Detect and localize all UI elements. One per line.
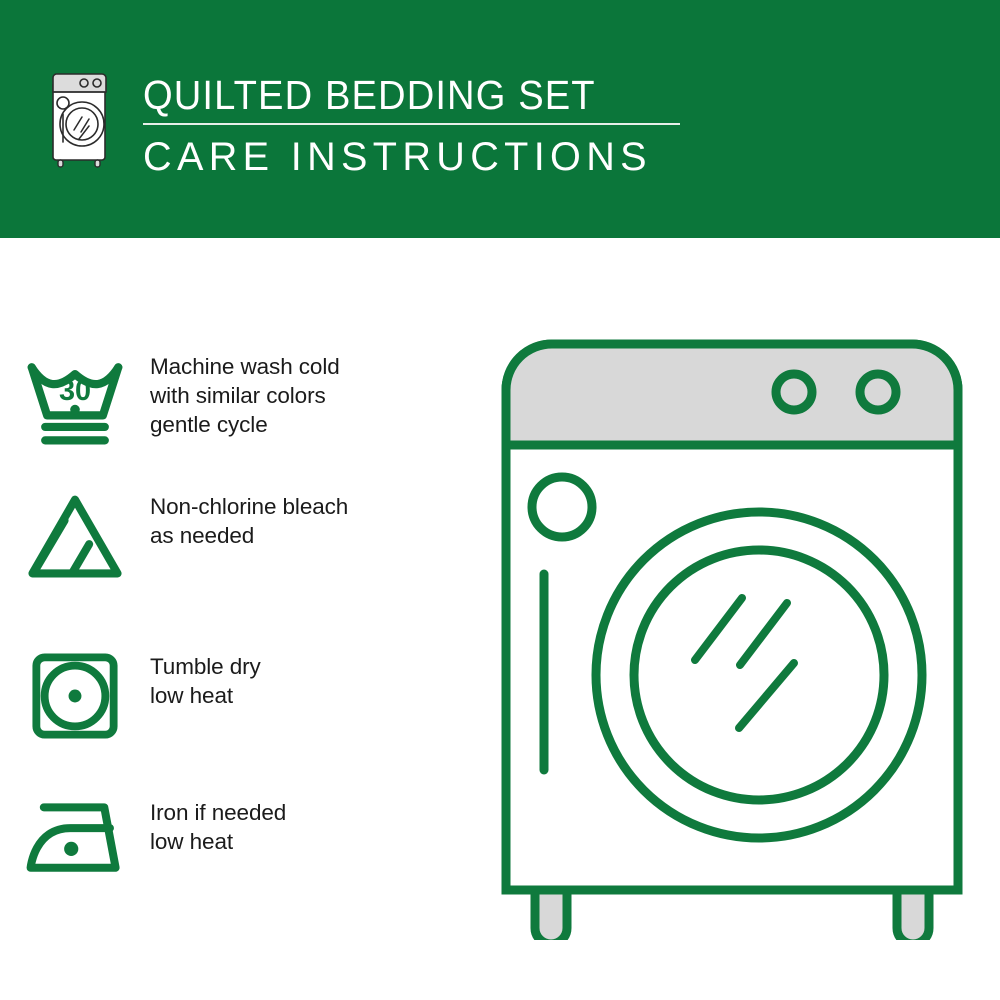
- wash-temperature-label: 30: [59, 375, 91, 407]
- care-instruction-list: 30 Machine wash cold with similar colors…: [0, 238, 480, 1000]
- title-divider: [143, 123, 680, 125]
- care-text-line: Iron if needed: [150, 798, 286, 827]
- wash-tub-30-icon: 30: [0, 350, 150, 450]
- care-text-line: with similar colors: [150, 381, 340, 410]
- care-instructions-page: QUILTED BEDDING SET CARE INSTRUCTIONS 30: [0, 0, 1000, 1000]
- care-item-tumble-dry-text: Tumble dry low heat: [150, 650, 261, 710]
- iron-low-heat-icon: [0, 796, 150, 881]
- care-text-line: Tumble dry: [150, 652, 261, 681]
- care-item-machine-wash-text: Machine wash cold with similar colors ge…: [150, 350, 340, 439]
- care-text-line: gentle cycle: [150, 410, 340, 439]
- care-text-line: low heat: [150, 827, 286, 856]
- page-title: QUILTED BEDDING SET: [143, 72, 720, 118]
- tumble-dry-low-icon: [0, 650, 150, 742]
- header-text-block: QUILTED BEDDING SET CARE INSTRUCTIONS: [143, 72, 763, 179]
- care-item-iron: Iron if needed low heat: [0, 796, 470, 881]
- page-subtitle: CARE INSTRUCTIONS: [143, 135, 757, 179]
- care-item-machine-wash: 30 Machine wash cold with similar colors…: [0, 350, 470, 450]
- washer-leg-right: [897, 890, 929, 940]
- care-text-line: low heat: [150, 681, 261, 710]
- care-item-iron-text: Iron if needed low heat: [150, 796, 286, 856]
- washing-machine-icon: [46, 68, 118, 170]
- care-text-line: Non-chlorine bleach: [150, 492, 348, 521]
- care-item-bleach: Non-chlorine bleach as needed: [0, 490, 470, 585]
- washer-leg-left: [535, 890, 567, 940]
- care-item-bleach-text: Non-chlorine bleach as needed: [150, 490, 348, 550]
- non-chlorine-bleach-triangle-icon: [0, 490, 150, 585]
- care-text-line: as needed: [150, 521, 348, 550]
- care-item-tumble-dry: Tumble dry low heat: [0, 650, 470, 742]
- front-load-washing-machine-illustration: [492, 330, 972, 940]
- header-banner: QUILTED BEDDING SET CARE INSTRUCTIONS: [0, 0, 1000, 238]
- care-text-line: Machine wash cold: [150, 352, 340, 381]
